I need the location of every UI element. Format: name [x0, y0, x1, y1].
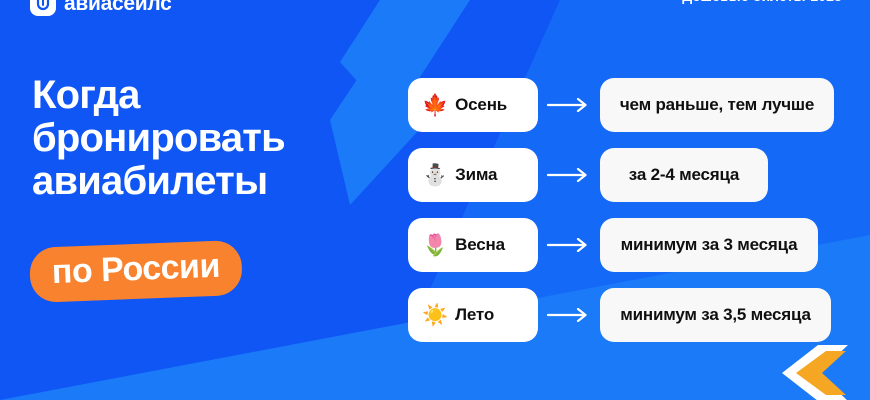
list-item: ☀️ Лето минимум за 3,5 месяца: [408, 288, 834, 342]
advice-text: минимум за 3 месяца: [621, 235, 798, 255]
sun-icon: ☀️: [422, 305, 448, 326]
list-item: 🌷 Весна минимум за 3 месяца: [408, 218, 834, 272]
arrow-right-icon: [538, 238, 600, 252]
aviasales-logo-icon: [30, 0, 56, 16]
list-item: ⛄ Зима за 2-4 месяца: [408, 148, 834, 202]
season-card: ☀️ Лето: [408, 288, 538, 342]
arrow-right-icon: [538, 168, 600, 182]
region-badge-label: по России: [29, 240, 243, 303]
brand-logo[interactable]: авиасейлс: [30, 0, 172, 20]
arrow-right-icon: [538, 98, 600, 112]
brand-name: авиасейлс: [64, 0, 172, 14]
list-item: 🍁 Осень чем раньше, тем лучше: [408, 78, 834, 132]
advice-card: чем раньше, тем лучше: [600, 78, 834, 132]
snowman-icon: ⛄: [422, 165, 448, 186]
advice-text: минимум за 3,5 месяца: [620, 305, 810, 325]
aviasales-chevron-mark-icon: [730, 340, 860, 400]
season-label: Лето: [455, 305, 494, 325]
tulip-icon: 🌷: [422, 235, 448, 256]
advice-card: минимум за 3 месяца: [600, 218, 818, 272]
season-label: Осень: [455, 95, 507, 115]
advice-text: чем раньше, тем лучше: [620, 95, 814, 115]
maple-leaf-icon: 🍁: [422, 95, 448, 116]
season-label: Зима: [455, 165, 497, 185]
advice-text: за 2-4 месяца: [629, 165, 739, 185]
tagline: Дешевые билеты-2025: [682, 0, 842, 4]
advice-card: за 2-4 месяца: [600, 148, 768, 202]
advice-card: минимум за 3,5 месяца: [600, 288, 831, 342]
season-card: 🍁 Осень: [408, 78, 538, 132]
headline-line-3: авиабилеты: [32, 160, 392, 203]
headline-line-1: Когда: [32, 74, 392, 117]
season-card: ⛄ Зима: [408, 148, 538, 202]
season-advice-list: 🍁 Осень чем раньше, тем лучше ⛄ Зима: [408, 78, 834, 342]
poster-canvas: авиасейлс Дешевые билеты-2025 Когда брон…: [0, 0, 870, 400]
region-badge: по России: [29, 240, 243, 303]
season-card: 🌷 Весна: [408, 218, 538, 272]
headline-line-2: бронировать: [32, 117, 392, 160]
page-title: Когда бронировать авиабилеты: [32, 74, 392, 204]
season-label: Весна: [455, 235, 505, 255]
arrow-right-icon: [538, 308, 600, 322]
